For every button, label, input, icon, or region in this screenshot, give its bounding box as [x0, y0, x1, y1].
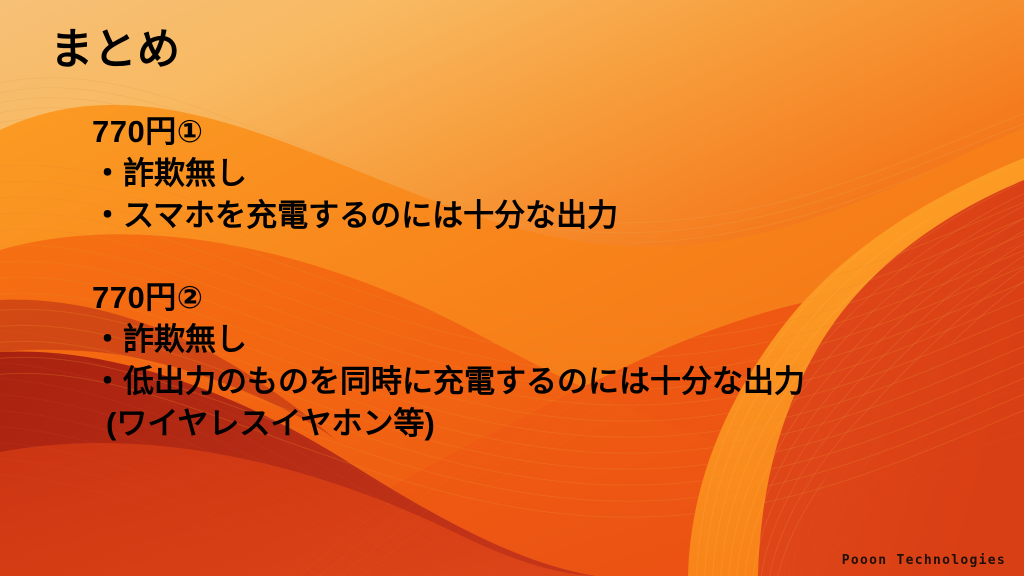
- block-1-bullet-1: ・詐欺無し: [92, 153, 618, 195]
- block-2-continuation: (ワイヤレスイヤホン等): [92, 403, 805, 445]
- bullet-icon: ・: [92, 153, 123, 195]
- content-block-1: 770円① ・詐欺無し ・スマホを充電するのには十分な出力: [92, 111, 618, 237]
- page-title: まとめ: [50, 24, 181, 78]
- block-2-heading: 770円②: [92, 277, 805, 319]
- block-2-bullet-1: ・詐欺無し: [92, 319, 805, 361]
- footer-brand: Pooon Technologies: [842, 553, 1006, 568]
- block-1-bullet-2-text: スマホを充電するのには十分な出力: [123, 198, 618, 233]
- block-1-bullet-2: ・スマホを充電するのには十分な出力: [92, 195, 618, 237]
- block-2-bullet-2-text: 低出力のものを同時に充電するのには十分な出力: [123, 364, 805, 399]
- bullet-icon: ・: [92, 195, 123, 237]
- block-1-heading: 770円①: [92, 111, 618, 153]
- content-block-2: 770円② ・詐欺無し ・低出力のものを同時に充電するのには十分な出力 (ワイヤ…: [92, 277, 805, 445]
- block-1-bullet-1-text: 詐欺無し: [123, 156, 247, 191]
- bullet-icon: ・: [92, 361, 123, 403]
- block-2-bullet-2: ・低出力のものを同時に充電するのには十分な出力: [92, 361, 805, 403]
- slide-content: まとめ 770円① ・詐欺無し ・スマホを充電するのには十分な出力 770円② …: [0, 0, 1024, 576]
- bullet-icon: ・: [92, 319, 123, 361]
- block-2-bullet-1-text: 詐欺無し: [123, 322, 247, 357]
- presentation-slide: まとめ 770円① ・詐欺無し ・スマホを充電するのには十分な出力 770円② …: [0, 0, 1024, 576]
